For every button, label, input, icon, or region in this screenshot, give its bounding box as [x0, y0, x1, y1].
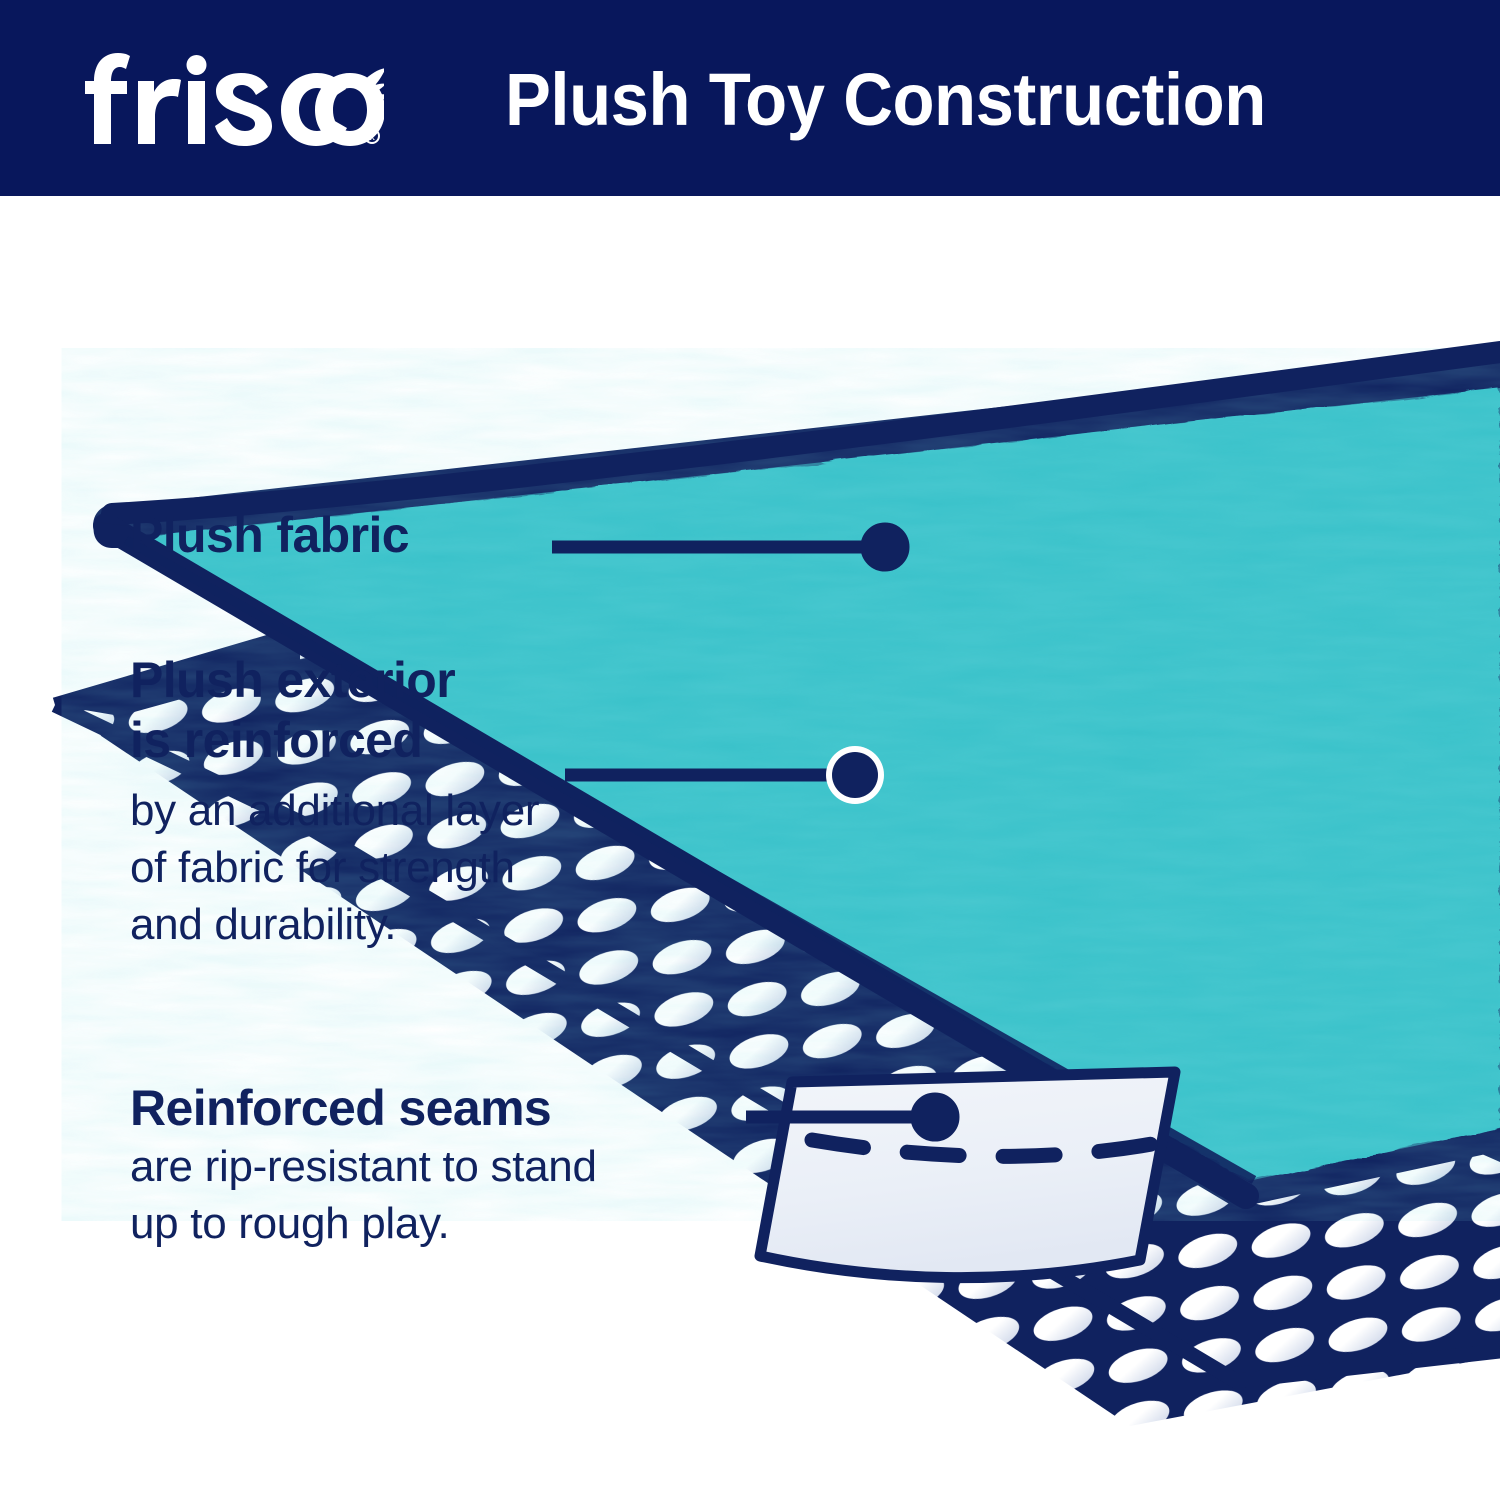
callout-heading-line2: is reinforced [130, 710, 539, 770]
seam-flap-panel [760, 1072, 1175, 1278]
infographic-page: R Plush Toy Construction [0, 0, 1500, 1500]
callout-plush-exterior: Plush exterior is reinforced by an addit… [130, 650, 539, 953]
page-title: Plush Toy Construction [505, 46, 1342, 156]
header-band: R Plush Toy Construction [0, 0, 1500, 196]
callout-body-line1: by an additional layer [130, 782, 539, 839]
callout-reinforced-seams: Reinforced seams are rip-resistant to st… [130, 1078, 597, 1252]
callout-heading: Plush fabric [130, 505, 409, 565]
callout-body-line3: and durability. [130, 896, 539, 953]
callout-heading: Reinforced seams [130, 1078, 597, 1138]
callout-body-line2: of fabric for strength [130, 839, 539, 896]
callout-heading-line1: Plush exterior [130, 650, 539, 710]
callout-body-line2: up to rough play. [130, 1195, 597, 1252]
frisco-logo: R [84, 50, 384, 146]
svg-text:R: R [369, 132, 375, 142]
callout-plush-fabric: Plush fabric [130, 505, 409, 565]
callout-body-line1: are rip-resistant to stand [130, 1138, 597, 1195]
